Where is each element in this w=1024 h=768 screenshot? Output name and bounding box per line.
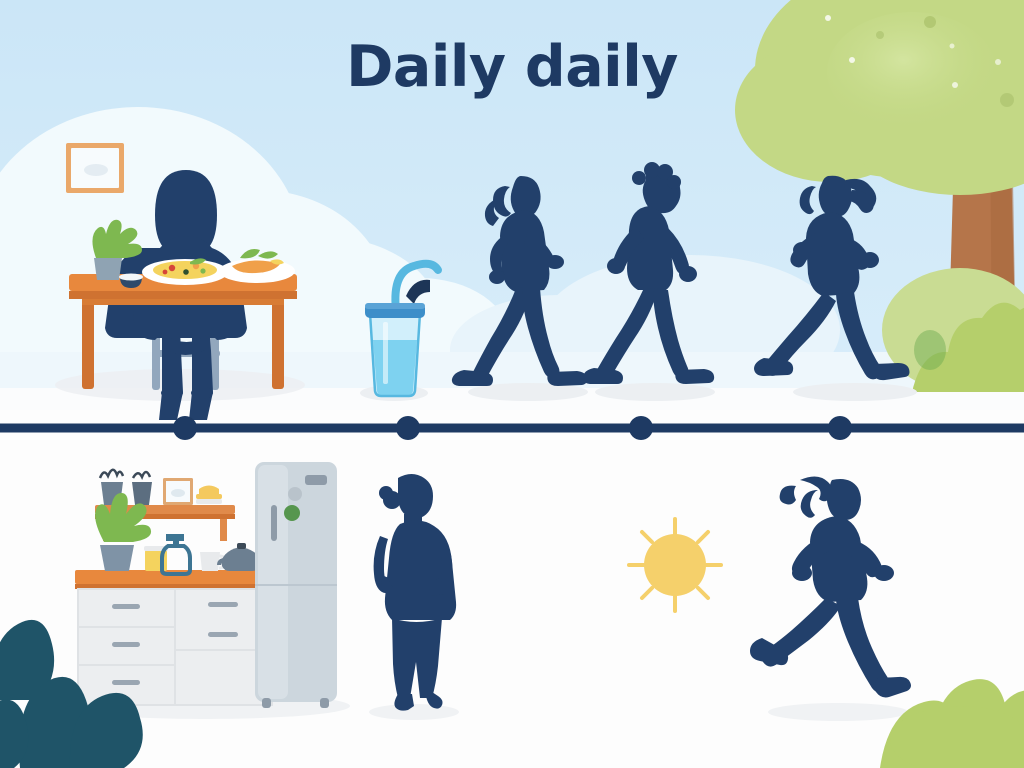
bush-bottom-right	[880, 679, 1024, 768]
leaf-plant-bottom-left	[0, 620, 143, 768]
illustration-canvas: Daily daily	[0, 0, 1024, 768]
foreground-decor	[0, 0, 1024, 768]
